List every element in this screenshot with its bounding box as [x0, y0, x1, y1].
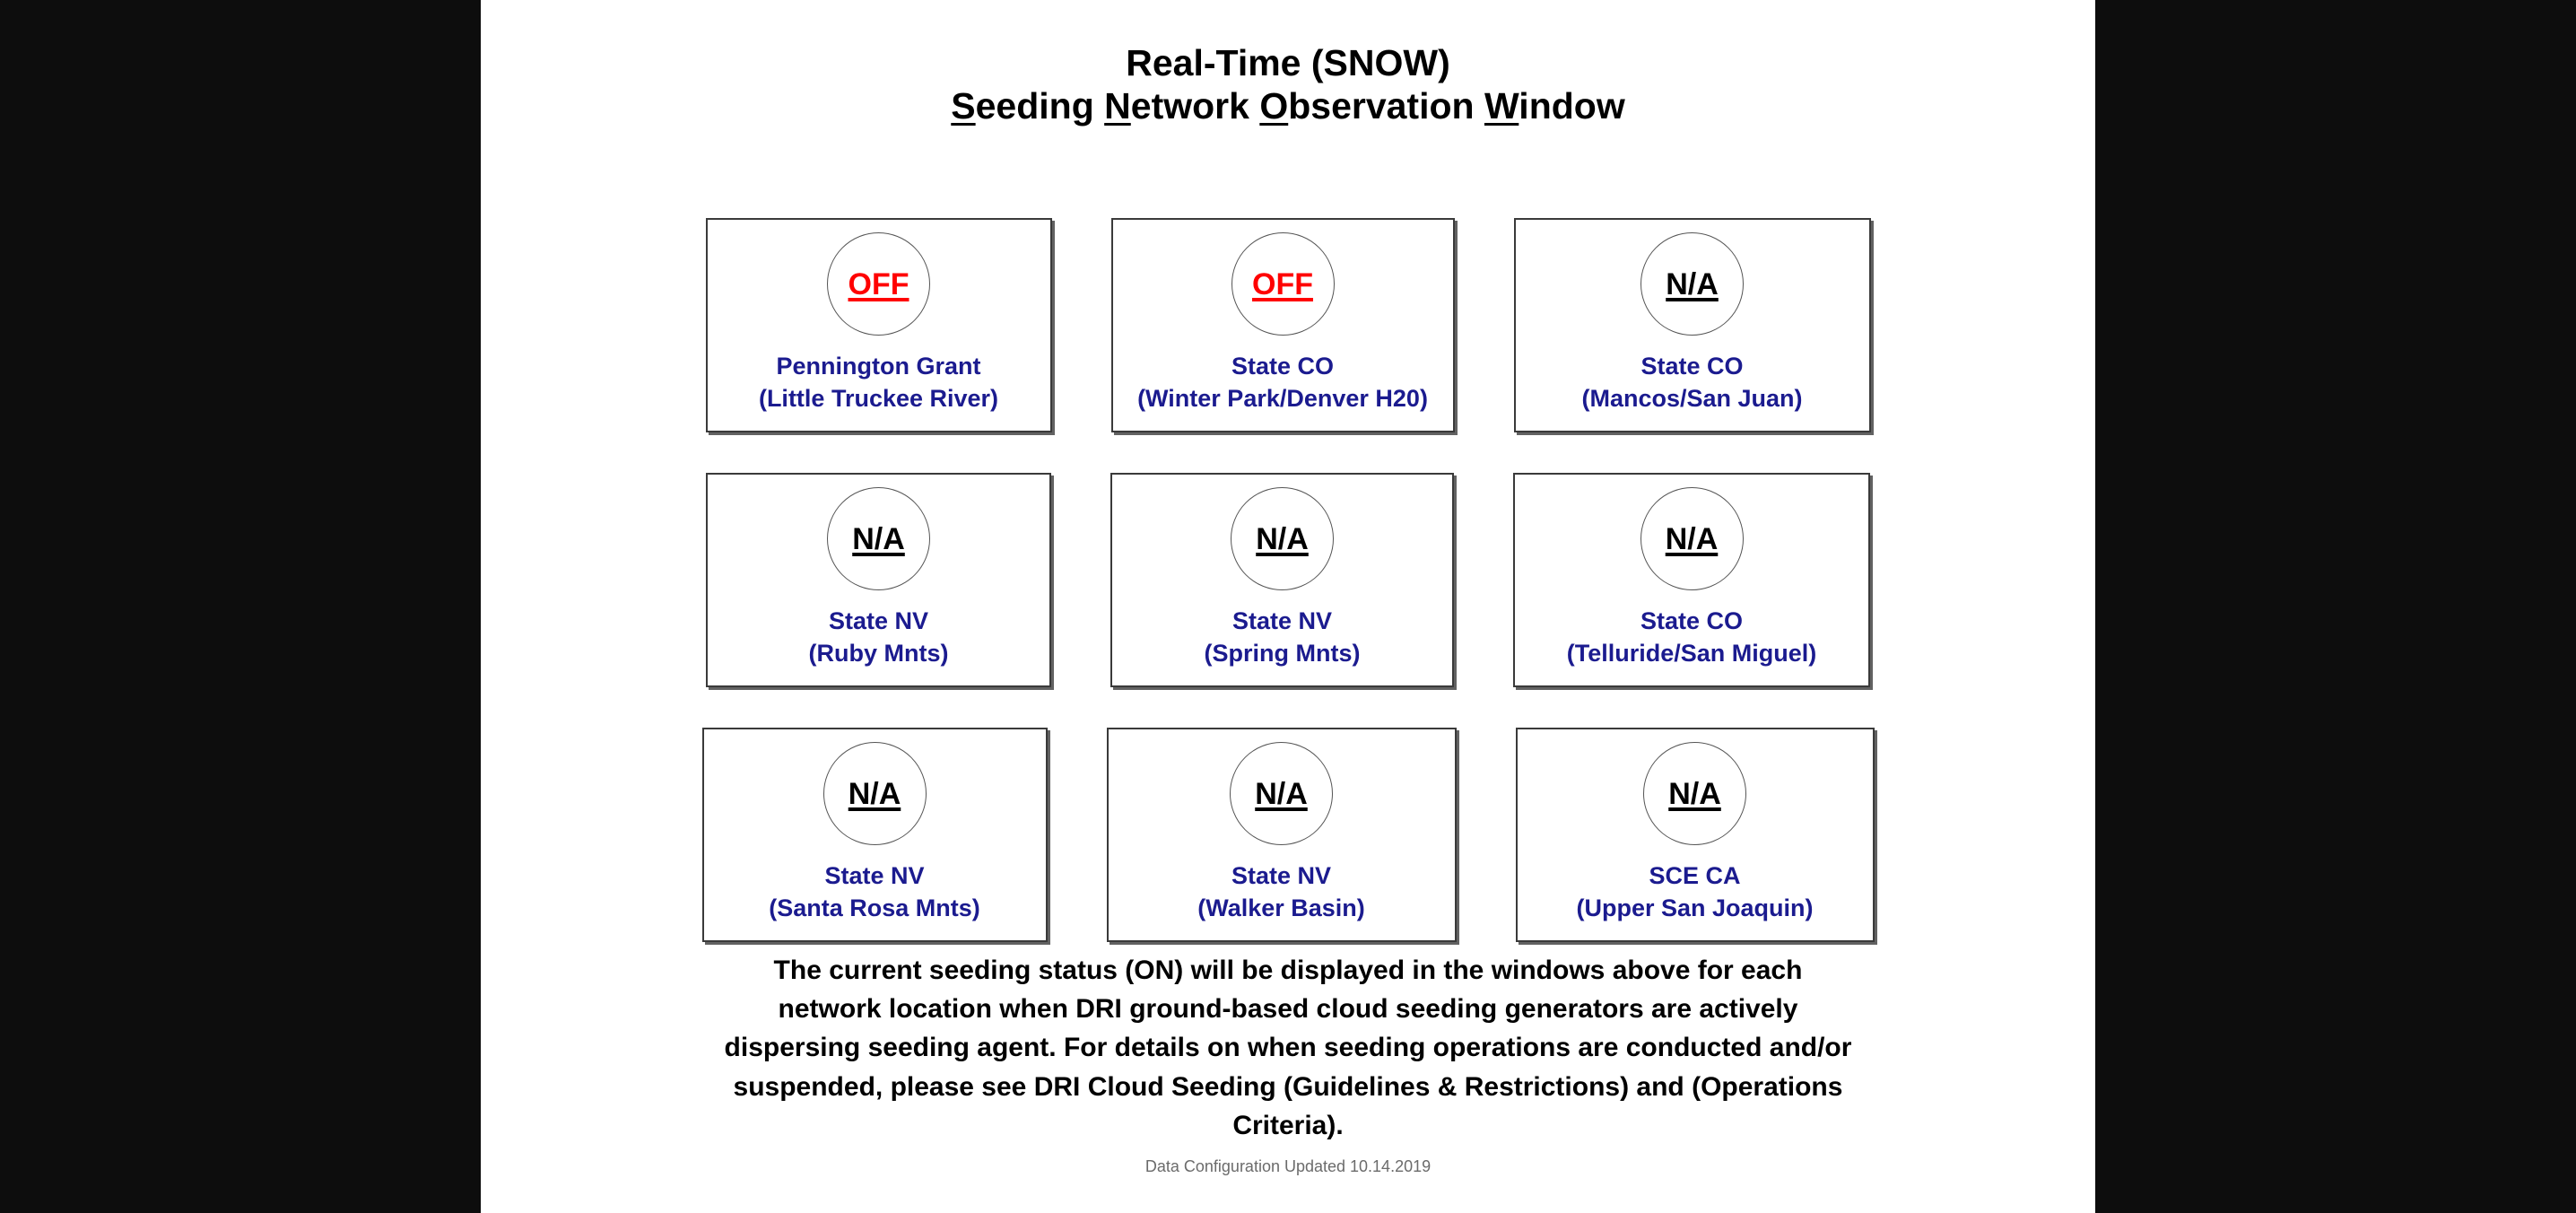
status-indicator-circle: OFF — [827, 232, 930, 336]
footer-updated-note: Data Configuration Updated 10.14.2019 — [481, 1157, 2095, 1176]
station-label-line1: State NV — [1231, 862, 1331, 889]
title-line-2: Seeding Network Observation Window — [481, 84, 2095, 127]
status-indicator-circle: OFF — [1231, 232, 1335, 336]
status-value: N/A — [1666, 269, 1719, 300]
status-card[interactable]: N/AState CO(Telluride/San Miguel) — [1513, 473, 1870, 687]
title-segment-4: O — [1259, 85, 1288, 127]
station-label-line2: (Ruby Mnts) — [809, 638, 949, 670]
station-label-line1: SCE CA — [1649, 862, 1740, 889]
station-label-line2: (Winter Park/Denver H20) — [1137, 383, 1428, 415]
slide-page: Real-Time (SNOW) Seeding Network Observa… — [481, 0, 2095, 1213]
status-card[interactable]: N/AState CO(Mancos/San Juan) — [1514, 218, 1871, 432]
station-label-line1: State NV — [1232, 607, 1332, 634]
status-card-row: N/AState NV(Ruby Mnts)N/AState NV(Spring… — [481, 473, 2095, 687]
status-card[interactable]: OFFState CO(Winter Park/Denver H20) — [1111, 218, 1455, 432]
status-value: N/A — [1256, 524, 1309, 554]
station-label: State CO(Telluride/San Miguel) — [1567, 606, 1817, 669]
station-label: SCE CA(Upper San Joaquin) — [1576, 860, 1813, 924]
title-segment-6: W — [1484, 85, 1519, 127]
station-label-line2: (Upper San Joaquin) — [1576, 893, 1813, 925]
station-label-line2: (Santa Rosa Mnts) — [769, 893, 980, 925]
title-segment-0: S — [951, 85, 975, 127]
screen-backdrop: Real-Time (SNOW) Seeding Network Observa… — [0, 0, 2576, 1213]
status-value: N/A — [1666, 524, 1719, 554]
status-card[interactable]: N/AState NV(Spring Mnts) — [1110, 473, 1454, 687]
station-label: State NV(Santa Rosa Mnts) — [769, 860, 980, 924]
title-segment-7: indow — [1519, 85, 1624, 127]
status-card[interactable]: N/AState NV(Walker Basin) — [1107, 728, 1457, 942]
status-value: OFF — [849, 269, 909, 300]
status-value: N/A — [1668, 779, 1721, 809]
station-label-line2: (Telluride/San Miguel) — [1567, 638, 1817, 670]
station-label-line2: (Little Truckee River) — [759, 383, 998, 415]
title-segment-5: bservation — [1288, 85, 1484, 127]
station-label: State NV(Ruby Mnts) — [809, 606, 949, 669]
status-indicator-circle: N/A — [823, 742, 927, 845]
station-label: State CO(Winter Park/Denver H20) — [1137, 351, 1428, 415]
station-label-line1: State CO — [1640, 353, 1743, 380]
station-label: State CO(Mancos/San Juan) — [1581, 351, 1802, 415]
title-segment-2: N — [1104, 85, 1131, 127]
station-label-line1: Pennington Grant — [777, 353, 981, 380]
status-value: N/A — [852, 524, 905, 554]
status-card[interactable]: N/AState NV(Santa Rosa Mnts) — [702, 728, 1048, 942]
station-label: State NV(Walker Basin) — [1197, 860, 1365, 924]
status-indicator-circle: N/A — [1640, 487, 1744, 590]
status-card-row: OFFPennington Grant(Little Truckee River… — [481, 218, 2095, 432]
status-indicator-circle: N/A — [1643, 742, 1746, 845]
status-indicator-circle: N/A — [1230, 742, 1333, 845]
status-value: N/A — [1255, 779, 1308, 809]
station-label-line2: (Walker Basin) — [1197, 893, 1365, 925]
status-indicator-circle: N/A — [1640, 232, 1744, 336]
status-card[interactable]: N/AState NV(Ruby Mnts) — [706, 473, 1051, 687]
station-label-line1: State NV — [824, 862, 924, 889]
status-card-row: N/AState NV(Santa Rosa Mnts)N/AState NV(… — [481, 728, 2095, 942]
station-label-line1: State CO — [1231, 353, 1334, 380]
station-label: Pennington Grant(Little Truckee River) — [759, 351, 998, 415]
status-card[interactable]: OFFPennington Grant(Little Truckee River… — [706, 218, 1052, 432]
title-line-1: Real-Time (SNOW) — [481, 41, 2095, 84]
title-segment-3: etwork — [1131, 85, 1260, 127]
station-label-line2: (Mancos/San Juan) — [1581, 383, 1802, 415]
station-label-line1: State CO — [1640, 607, 1743, 634]
status-value: OFF — [1252, 269, 1313, 300]
status-card[interactable]: N/ASCE CA(Upper San Joaquin) — [1516, 728, 1875, 942]
description-paragraph: The current seeding status (ON) will be … — [723, 951, 1853, 1145]
station-label: State NV(Spring Mnts) — [1205, 606, 1361, 669]
station-label-line2: (Spring Mnts) — [1205, 638, 1361, 670]
page-title: Real-Time (SNOW) Seeding Network Observa… — [481, 41, 2095, 128]
status-value: N/A — [849, 779, 901, 809]
station-label-line1: State NV — [829, 607, 928, 634]
status-indicator-circle: N/A — [827, 487, 930, 590]
title-segment-1: eeding — [976, 85, 1105, 127]
status-indicator-circle: N/A — [1231, 487, 1334, 590]
status-card-grid: OFFPennington Grant(Little Truckee River… — [481, 218, 2095, 942]
